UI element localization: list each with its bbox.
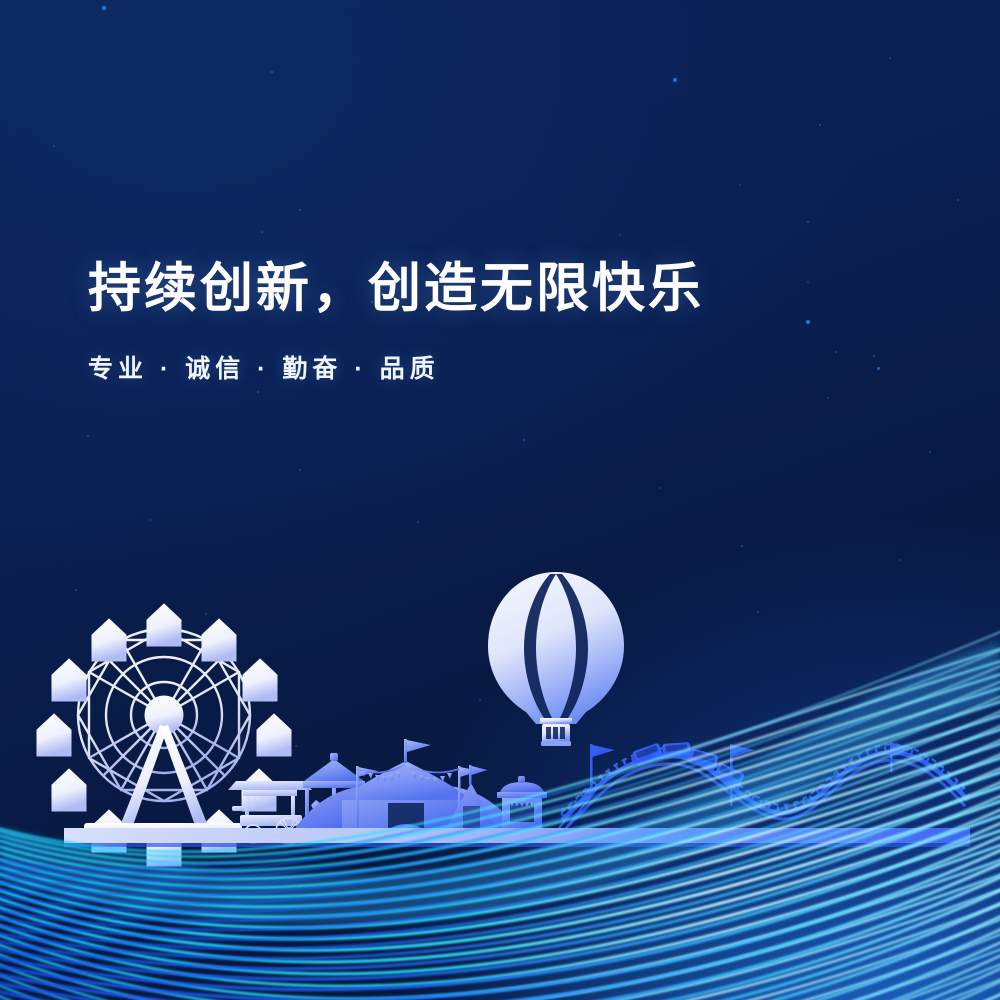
neon-wave-pattern [0, 0, 1000, 1000]
promo-poster: 持续创新，创造无限快乐 专业 · 诚信 · 勤奋 · 品质 [0, 0, 1000, 1000]
